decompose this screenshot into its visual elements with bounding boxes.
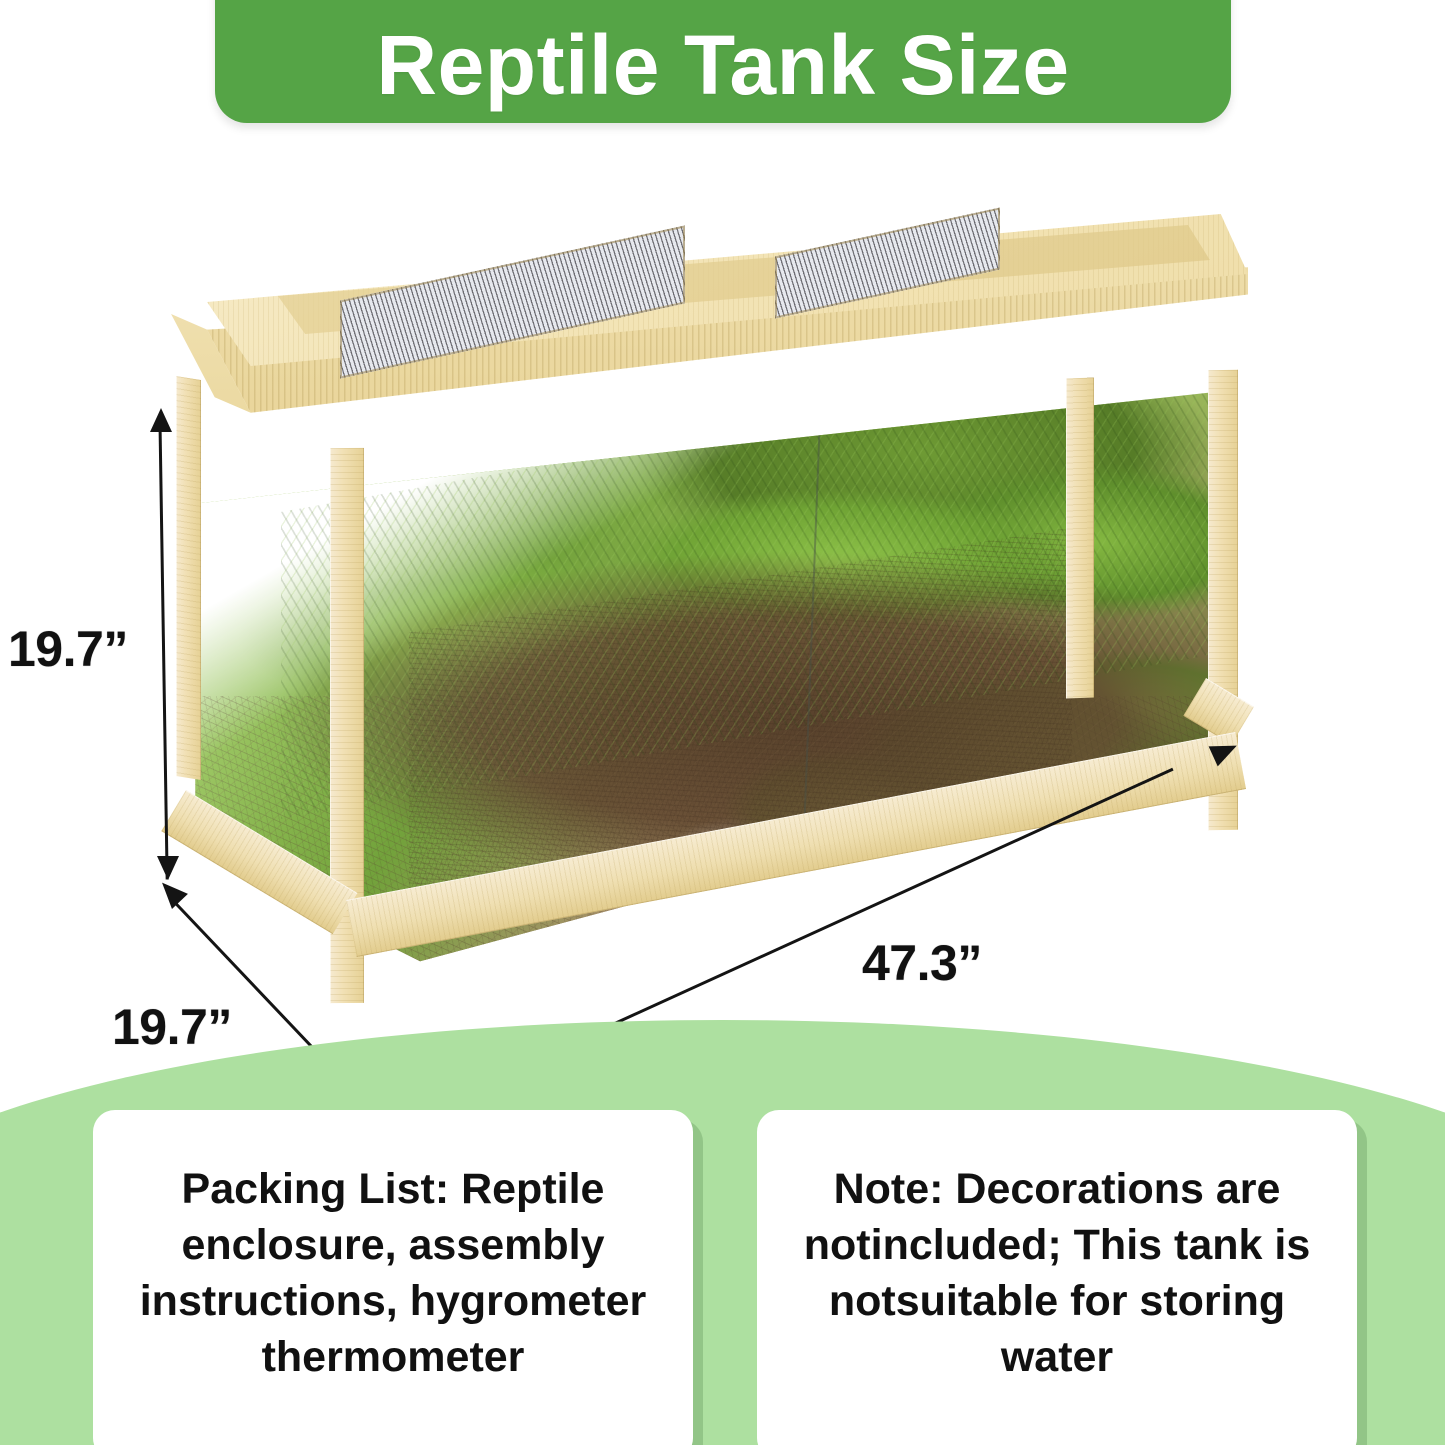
height-dimension-label: 19.7”: [8, 620, 128, 678]
note-text: Note: Decorations are notincluded; This …: [785, 1162, 1329, 1386]
length-dimension-label: 47.3”: [862, 934, 982, 992]
page-title: Reptile Tank Size: [376, 23, 1069, 107]
packing-list-card: Packing List: Reptile enclosure, assembl…: [93, 1110, 693, 1445]
title-banner: Reptile Tank Size: [215, 0, 1231, 123]
packing-list-text: Packing List: Reptile enclosure, assembl…: [121, 1162, 665, 1386]
corner-post-back-left: [176, 376, 201, 780]
height-arrowhead-top-icon: [150, 408, 172, 432]
product-figure: 19.7” 19.7” 47.3”: [0, 150, 1445, 1020]
reptile-tank-illustration: [150, 210, 1255, 1000]
note-card: Note: Decorations are notincluded; This …: [757, 1110, 1357, 1445]
depth-dimension-label: 19.7”: [112, 998, 232, 1056]
center-post: [1066, 378, 1094, 699]
infographic-page: Reptile Tank Size: [0, 0, 1445, 1445]
